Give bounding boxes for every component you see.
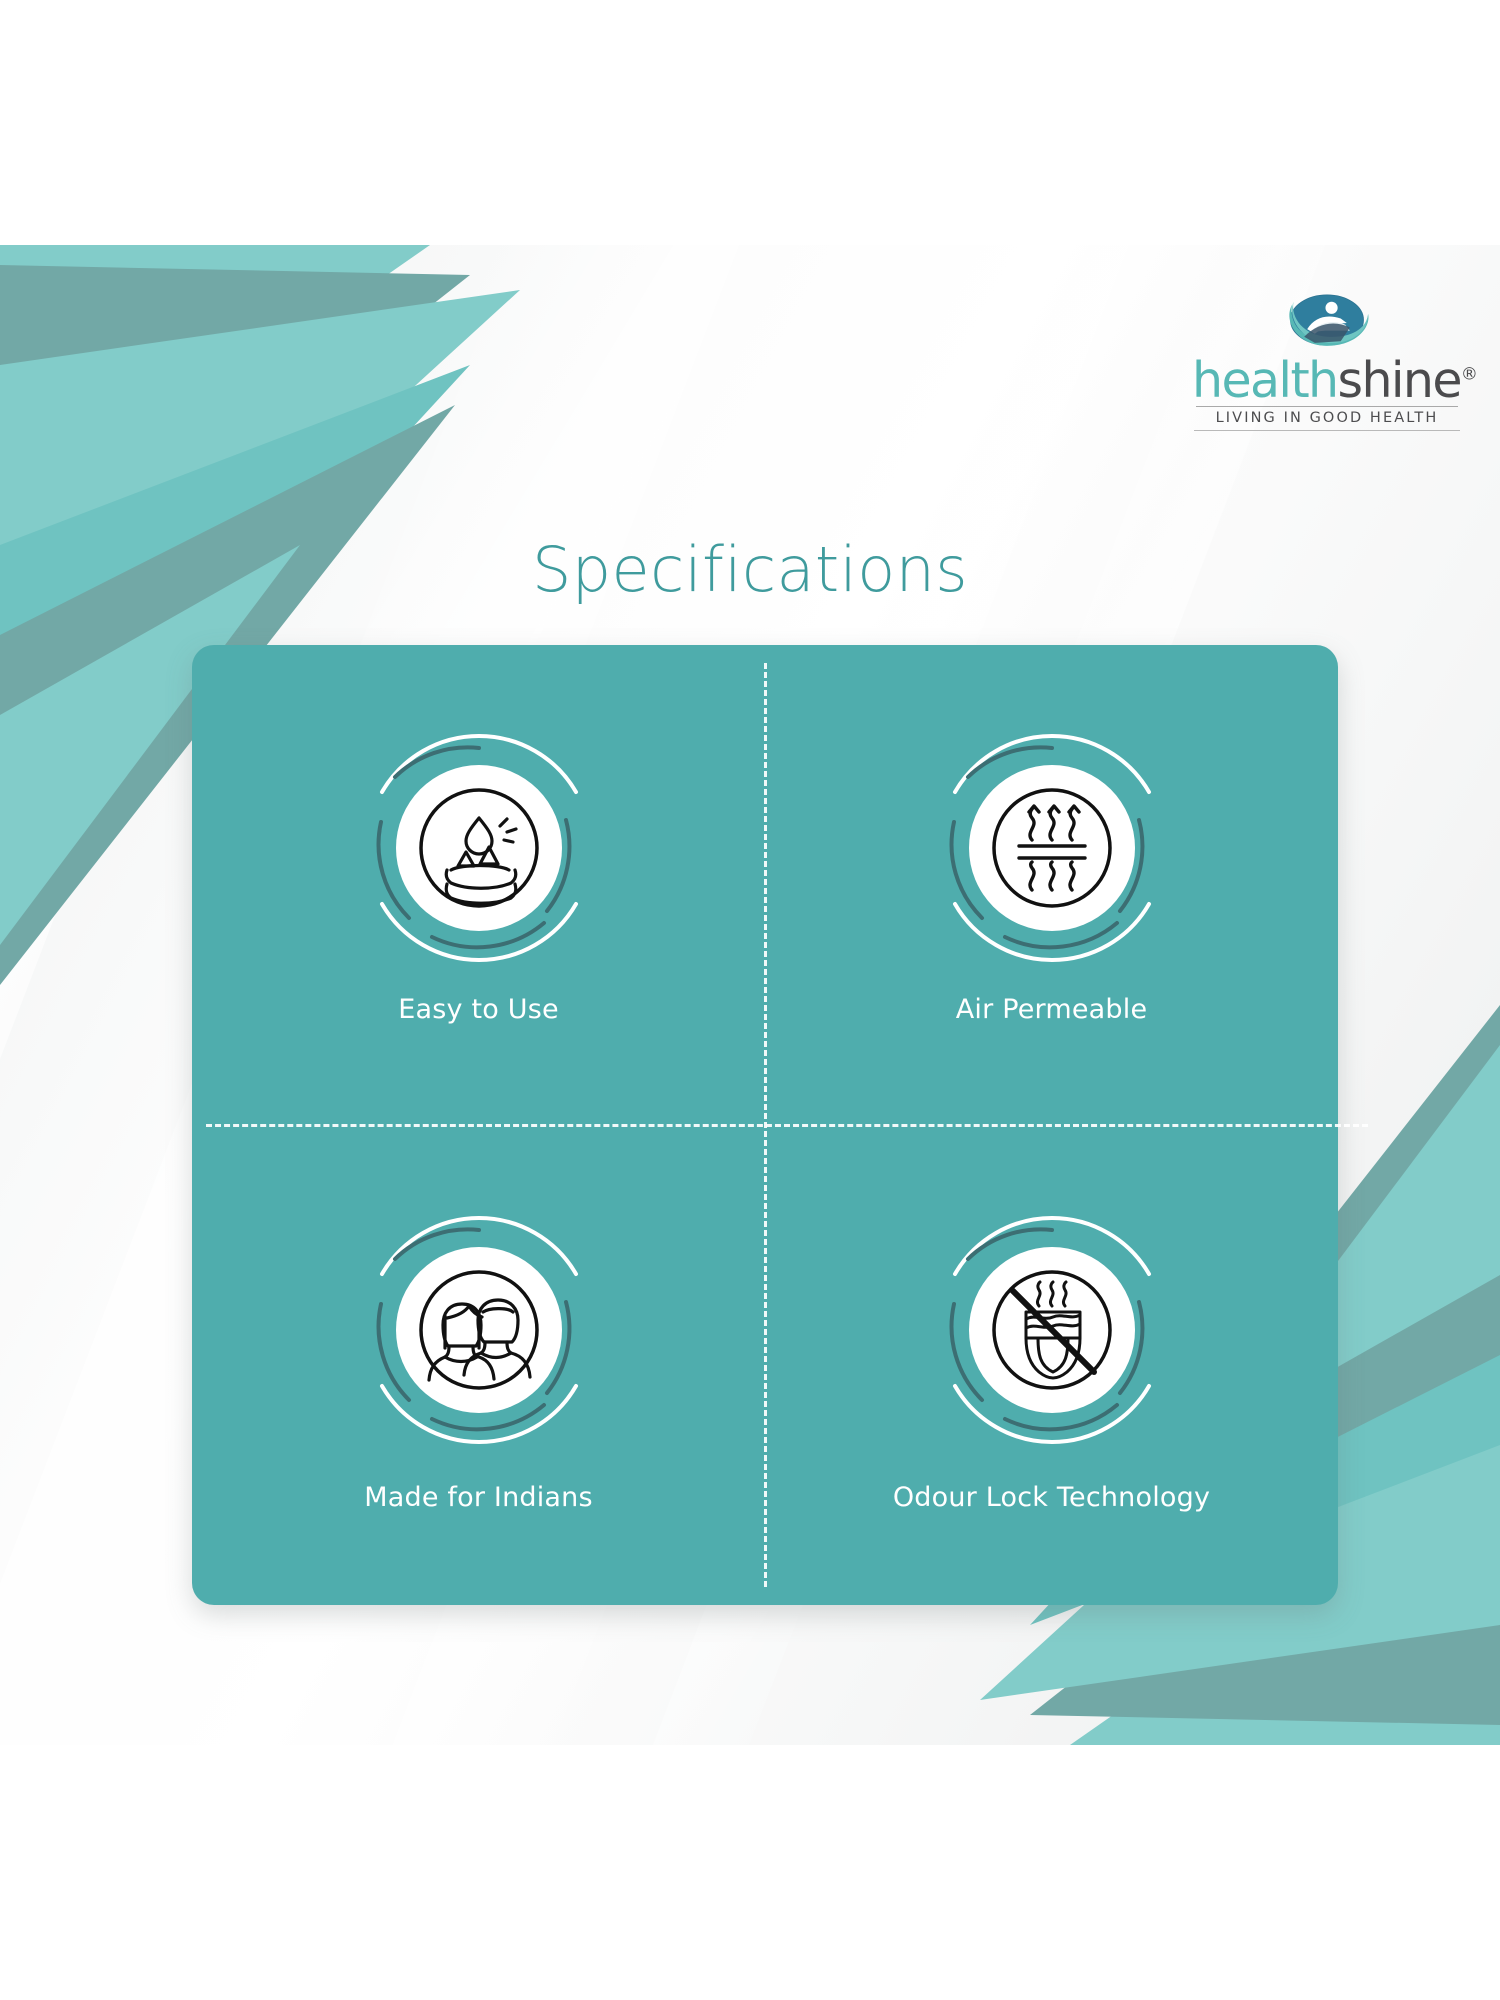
feature-label-odour-lock-technology: Odour Lock Technology xyxy=(893,1482,1210,1513)
feature-cell-air-permeable[interactable]: Air Permeable xyxy=(765,645,1338,1125)
person-swoosh-logo-icon xyxy=(1281,285,1373,355)
badge-made-for-indians xyxy=(361,1212,597,1448)
logo-word-shine: shine xyxy=(1338,352,1461,409)
feature-cell-odour-lock-technology[interactable]: Odour Lock Technology xyxy=(765,1125,1338,1605)
logo-tagline: LIVING IN GOOD HEALTH xyxy=(1192,410,1462,426)
feature-label-air-permeable: Air Permeable xyxy=(956,994,1148,1025)
specifications-card: Easy to Use xyxy=(192,645,1338,1605)
feature-label-easy-to-use: Easy to Use xyxy=(398,994,559,1025)
registered-mark: ® xyxy=(1461,365,1478,385)
logo-word-health: health xyxy=(1192,352,1338,409)
logo-underline-rule xyxy=(1194,430,1460,431)
feature-cell-easy-to-use[interactable]: Easy to Use xyxy=(192,645,765,1125)
artwork-band: healthshine® LIVING IN GOOD HEALTH Speci… xyxy=(0,245,1500,1745)
feature-cell-made-for-indians[interactable]: Made for Indians xyxy=(192,1125,765,1605)
badge-odour-lock-technology xyxy=(934,1212,1170,1448)
logo-wordmark: healthshine® xyxy=(1192,357,1462,405)
poster-canvas: healthshine® LIVING IN GOOD HEALTH Speci… xyxy=(0,0,1500,2000)
feature-grid: Easy to Use xyxy=(192,645,1338,1605)
feature-label-made-for-indians: Made for Indians xyxy=(364,1482,593,1513)
badge-easy-to-use xyxy=(361,730,597,966)
brand-logo: healthshine® LIVING IN GOOD HEALTH xyxy=(1192,285,1462,431)
page-title: Specifications xyxy=(0,533,1500,606)
badge-air-permeable xyxy=(934,730,1170,966)
